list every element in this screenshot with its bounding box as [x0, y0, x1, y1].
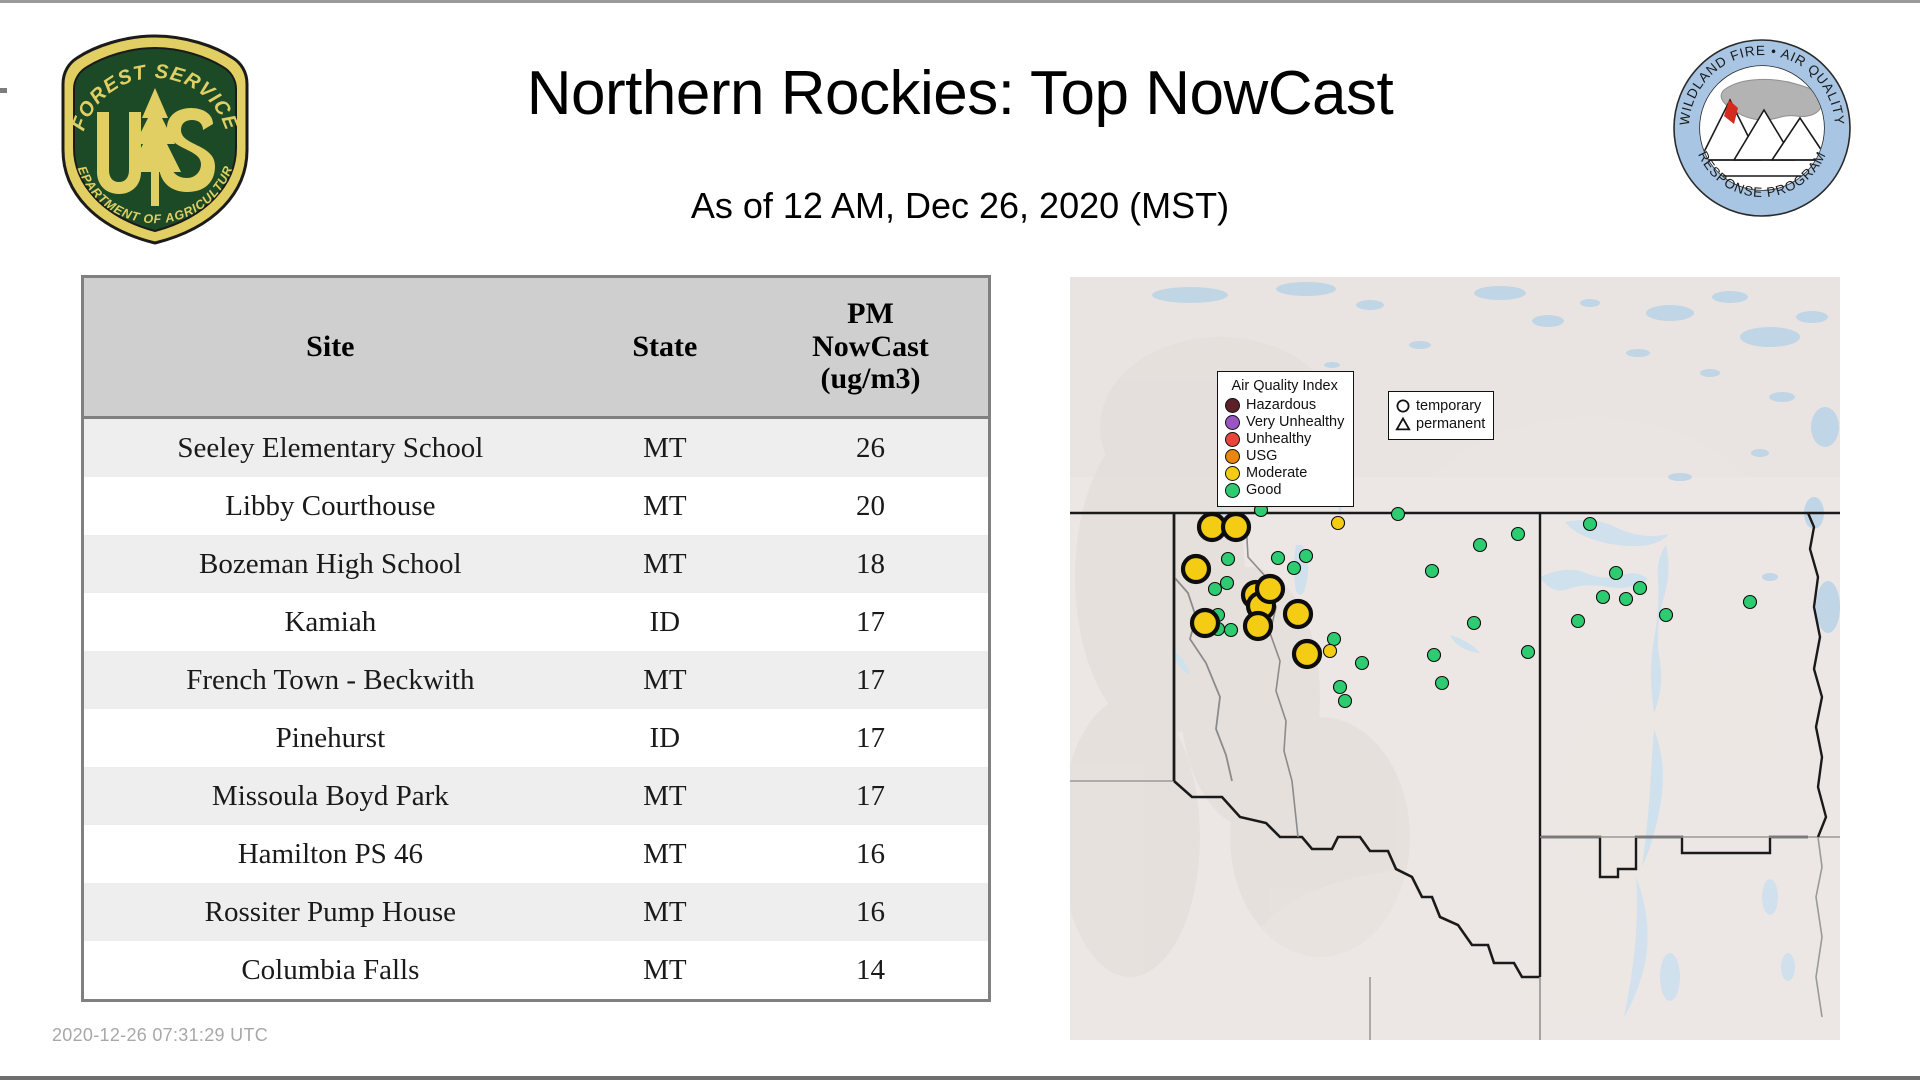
- table-cell-state: MT: [577, 535, 753, 593]
- table-row: Missoula Boyd ParkMT17: [84, 767, 988, 825]
- legend-label: USG: [1246, 449, 1277, 464]
- legend-monitor-type: temporary permanent: [1388, 391, 1494, 440]
- legend-row-very-unhealthy: Very Unhealthy: [1225, 414, 1344, 431]
- footer-timestamp: 2020-12-26 07:31:29 UTC: [52, 1025, 268, 1046]
- wfaqrp-logo-icon: WILDLAND FIRE • AIR QUALITY RESPONSE PRO…: [1672, 38, 1852, 218]
- table-cell-site: Pinehurst: [84, 709, 577, 767]
- legend-row-permanent: permanent: [1395, 415, 1485, 433]
- table-cell-site: Libby Courthouse: [84, 477, 577, 535]
- table-cell-state: MT: [577, 883, 753, 941]
- map-marker-good[interactable]: [1584, 518, 1597, 531]
- table-row: Rossiter Pump HouseMT16: [84, 883, 988, 941]
- map-marker-good[interactable]: [1288, 562, 1301, 575]
- map-marker-good[interactable]: [1426, 565, 1439, 578]
- column-header-state: State: [577, 278, 753, 418]
- column-header-site: Site: [84, 278, 577, 418]
- column-header-pm-nowcast: PM NowCast (ug/m3): [753, 278, 988, 418]
- table-cell-pm: 16: [753, 825, 988, 883]
- map-marker-good[interactable]: [1328, 633, 1341, 646]
- column-header-pm-line2: NowCast: [753, 331, 988, 363]
- map-marker-good[interactable]: [1512, 528, 1525, 541]
- page-title: Northern Rockies: Top NowCast: [300, 58, 1620, 129]
- legend-row-unhealthy: Unhealthy: [1225, 431, 1344, 448]
- map-marker-good[interactable]: [1334, 681, 1347, 694]
- map-marker-good[interactable]: [1428, 649, 1441, 662]
- map-marker-good[interactable]: [1610, 567, 1623, 580]
- permanent-monitor-icon: [1395, 416, 1411, 432]
- legend-row-temporary: temporary: [1395, 397, 1485, 415]
- legend-swatch-icon: [1225, 415, 1240, 430]
- table-cell-site: Missoula Boyd Park: [84, 767, 577, 825]
- nowcast-table-container: Site State PM NowCast (ug/m3) Seeley Ele…: [81, 275, 991, 1002]
- map-marker-moderate[interactable]: [1332, 517, 1345, 530]
- table-cell-state: MT: [577, 651, 753, 709]
- legend-label: Hazardous: [1246, 398, 1316, 413]
- map-marker-good[interactable]: [1222, 553, 1235, 566]
- map-marker-good[interactable]: [1634, 582, 1647, 595]
- temporary-monitor-icon: [1395, 398, 1411, 414]
- legend-label: Moderate: [1246, 466, 1307, 481]
- table-cell-pm: 17: [753, 651, 988, 709]
- legend-row-moderate: Moderate: [1225, 465, 1344, 482]
- map-marker-good[interactable]: [1356, 657, 1369, 670]
- table-cell-pm: 14: [753, 941, 988, 999]
- map-marker-good[interactable]: [1300, 550, 1313, 563]
- map-marker-good[interactable]: [1597, 591, 1610, 604]
- map-marker-good[interactable]: [1468, 617, 1481, 630]
- table-cell-site: Hamilton PS 46: [84, 825, 577, 883]
- legend-label: Very Unhealthy: [1246, 415, 1344, 430]
- table-row: Libby CourthouseMT20: [84, 477, 988, 535]
- map-marker-good[interactable]: [1339, 695, 1352, 708]
- legend-swatch-icon: [1225, 449, 1240, 464]
- table-row: Hamilton PS 46MT16: [84, 825, 988, 883]
- table-row: KamiahID17: [84, 593, 988, 651]
- map-marker-good[interactable]: [1660, 609, 1673, 622]
- legend-swatch-icon: [1225, 398, 1240, 413]
- table-cell-site: Seeley Elementary School: [84, 418, 577, 478]
- nowcast-table: Site State PM NowCast (ug/m3) Seeley Ele…: [84, 278, 988, 999]
- legend-label-temporary: temporary: [1416, 399, 1481, 414]
- table-cell-pm: 16: [753, 883, 988, 941]
- table-cell-site: Columbia Falls: [84, 941, 577, 999]
- map-marker-moderate[interactable]: [1223, 514, 1249, 540]
- column-header-pm-line3: (ug/m3): [753, 363, 988, 395]
- table-cell-site: Bozeman High School: [84, 535, 577, 593]
- legend-row-usg: USG: [1225, 448, 1344, 465]
- map-marker-good[interactable]: [1272, 552, 1285, 565]
- table-cell-state: ID: [577, 593, 753, 651]
- map-marker-moderate[interactable]: [1285, 601, 1311, 627]
- legend-row-good: Good: [1225, 482, 1344, 499]
- map-marker-moderate[interactable]: [1324, 645, 1337, 658]
- table-cell-state: MT: [577, 941, 753, 999]
- legend-row-hazardous: Hazardous: [1225, 397, 1344, 414]
- table-cell-state: MT: [577, 825, 753, 883]
- page-subtitle: As of 12 AM, Dec 26, 2020 (MST): [300, 185, 1620, 227]
- legend-swatch-icon: [1225, 466, 1240, 481]
- table-cell-site: Kamiah: [84, 593, 577, 651]
- table-cell-state: ID: [577, 709, 753, 767]
- legend-title: Air Quality Index: [1225, 378, 1344, 394]
- air-quality-map[interactable]: Air Quality Index HazardousVery Unhealth…: [1070, 277, 1840, 1040]
- map-marker-good[interactable]: [1620, 593, 1633, 606]
- map-marker-moderate[interactable]: [1294, 641, 1320, 667]
- table-row: French Town - BeckwithMT17: [84, 651, 988, 709]
- table-cell-site: Rossiter Pump House: [84, 883, 577, 941]
- map-marker-moderate[interactable]: [1192, 610, 1218, 636]
- table-cell-site: French Town - Beckwith: [84, 651, 577, 709]
- table-cell-pm: 18: [753, 535, 988, 593]
- legend-label-permanent: permanent: [1416, 417, 1485, 432]
- table-row: PinehurstID17: [84, 709, 988, 767]
- map-marker-good[interactable]: [1522, 646, 1535, 659]
- table-row: Seeley Elementary SchoolMT26: [84, 418, 988, 478]
- legend-label: Unhealthy: [1246, 432, 1311, 447]
- page-header: FOREST SERVICE DEPARTMENT OF AGRICULTURE…: [0, 0, 1920, 270]
- table-cell-pm: 20: [753, 477, 988, 535]
- map-marker-good[interactable]: [1392, 508, 1405, 521]
- legend-swatch-icon: [1225, 483, 1240, 498]
- map-marker-good[interactable]: [1436, 677, 1449, 690]
- table-body: Seeley Elementary SchoolMT26Libby Courth…: [84, 418, 988, 1000]
- map-marker-good[interactable]: [1474, 539, 1487, 552]
- table-cell-pm: 26: [753, 418, 988, 478]
- table-cell-state: MT: [577, 767, 753, 825]
- map-marker-good[interactable]: [1225, 624, 1238, 637]
- table-header: Site State PM NowCast (ug/m3): [84, 278, 988, 418]
- map-marker-good[interactable]: [1572, 615, 1585, 628]
- column-header-pm-line1: PM: [753, 298, 988, 330]
- map-marker-moderate[interactable]: [1257, 576, 1283, 602]
- legend-label: Good: [1246, 483, 1281, 498]
- map-marker-good[interactable]: [1209, 583, 1222, 596]
- map-marker-good[interactable]: [1221, 577, 1234, 590]
- table-cell-state: MT: [577, 477, 753, 535]
- table-cell-state: MT: [577, 418, 753, 478]
- table-row: Columbia FallsMT14: [84, 941, 988, 999]
- legend-air-quality-index: Air Quality Index HazardousVery Unhealth…: [1217, 371, 1354, 507]
- table-cell-pm: 17: [753, 709, 988, 767]
- map-marker-moderate[interactable]: [1245, 613, 1271, 639]
- table-header-row: Site State PM NowCast (ug/m3): [84, 278, 988, 418]
- table-cell-pm: 17: [753, 767, 988, 825]
- map-marker-good[interactable]: [1744, 596, 1757, 609]
- usfs-shield-icon: FOREST SERVICE DEPARTMENT OF AGRICULTURE: [55, 32, 255, 247]
- legend-swatch-icon: [1225, 432, 1240, 447]
- table-row: Bozeman High SchoolMT18: [84, 535, 988, 593]
- map-marker-moderate[interactable]: [1183, 556, 1209, 582]
- table-cell-pm: 17: [753, 593, 988, 651]
